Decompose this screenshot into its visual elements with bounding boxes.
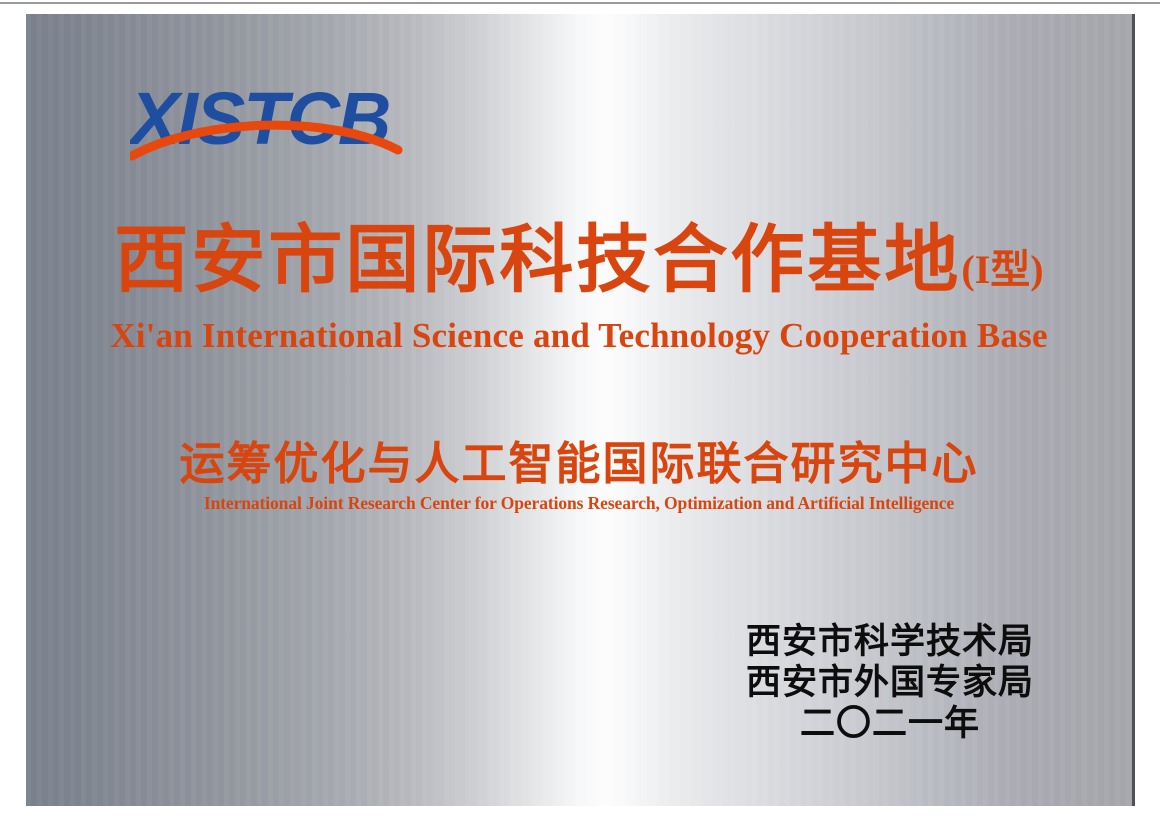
research-center-name-english: International Joint Research Center for … (26, 492, 1132, 514)
top-divider-rule (0, 2, 1160, 4)
plaque-title-chinese: 西安市国际科技合作基地(I型) (26, 219, 1132, 312)
plaque-content: XISTCB 西安市国际科技合作基地(I型) Xi'an Internation… (26, 14, 1132, 806)
issuer-year: 二〇二一年 (746, 703, 1034, 744)
research-center-name-chinese: 运筹优化与人工智能国际联合研究中心 (26, 437, 1132, 491)
xistcb-wordmark-text: XISTCB (130, 80, 389, 160)
xistcb-logo: XISTCB (130, 80, 430, 172)
plaque-title-english: Xi'an International Science and Technolo… (26, 314, 1132, 358)
plaque-title-chinese-main: 西安市国际科技合作基地 (114, 220, 961, 302)
xistcb-logo-mark: XISTCB (130, 80, 430, 172)
issuer-line-2: 西安市外国专家局 (746, 662, 1034, 703)
research-center-block: 运筹优化与人工智能国际联合研究中心 International Joint Re… (26, 437, 1132, 514)
award-plaque: XISTCB 西安市国际科技合作基地(I型) Xi'an Internation… (26, 14, 1135, 806)
issuer-line-1: 西安市科学技术局 (746, 621, 1034, 662)
issuer-block: 西安市科学技术局 西安市外国专家局 二〇二一年 (746, 621, 1034, 744)
plaque-title-chinese-suffix: (I型) (961, 247, 1043, 292)
headline-block: 西安市国际科技合作基地(I型) Xi'an International Scie… (26, 219, 1132, 358)
